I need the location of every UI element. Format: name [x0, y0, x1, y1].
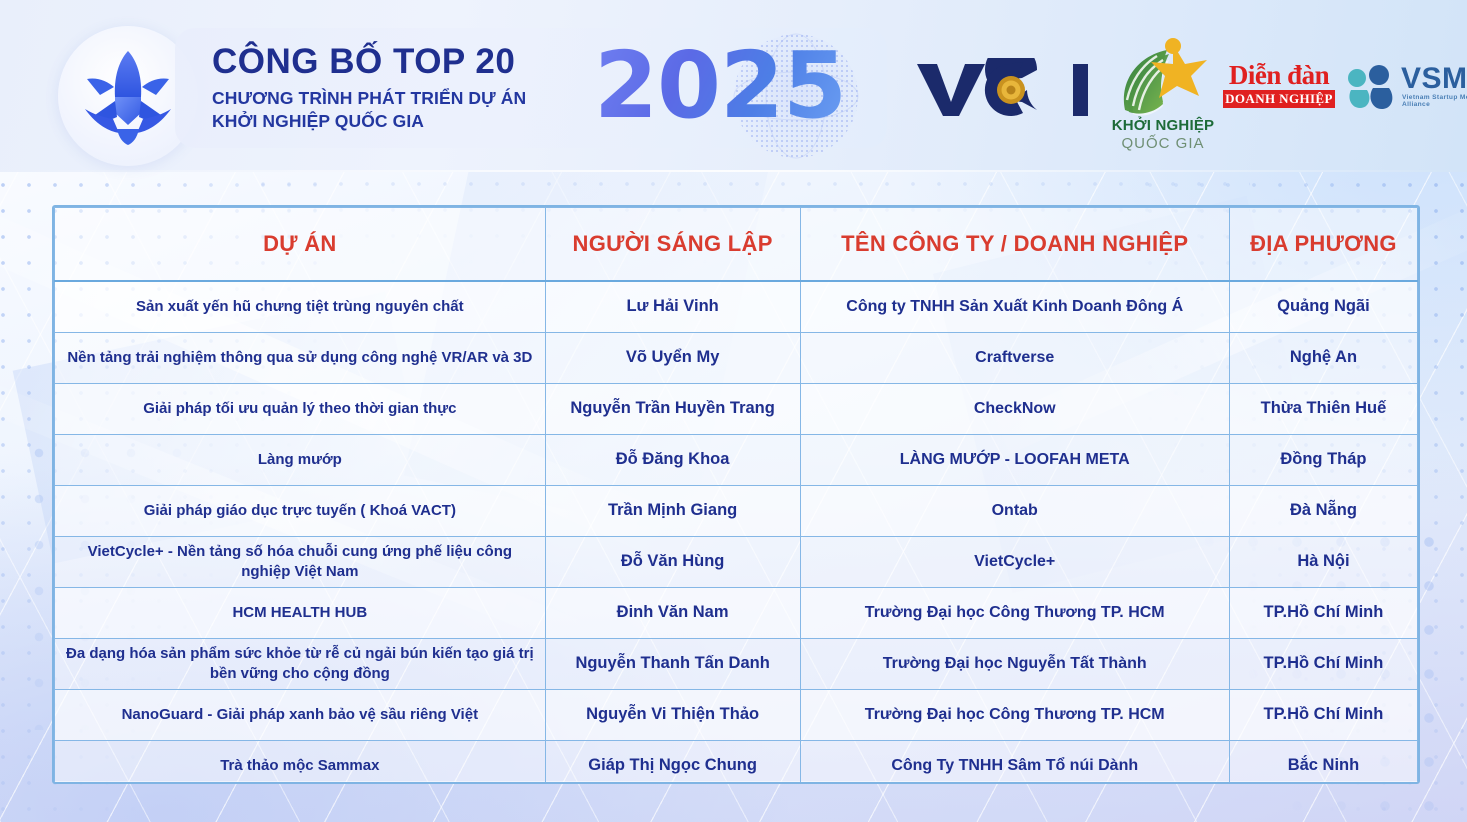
cell-founder: Nguyễn Vi Thiện Thảo [545, 689, 800, 740]
cell-founder: Trần Mịnh Giang [545, 485, 800, 536]
table-row: Trà thảo mộc Sammax Giáp Thị Ngọc Chung … [55, 740, 1418, 784]
cell-locality: Hà Nội [1229, 536, 1417, 587]
top20-table: DỰ ÁN NGƯỜI SÁNG LẬP TÊN CÔNG TY / DOANH… [54, 207, 1418, 784]
rocket-icon [69, 37, 187, 155]
cell-founder: Võ Uyển My [545, 332, 800, 383]
vsma-logo: VSMA Vietnam Startup Mentors Alliance [1345, 62, 1467, 114]
cell-project: Đa dạng hóa sản phẩm sức khỏe từ rễ củ n… [55, 638, 546, 689]
page-subtitle-line-2: KHỞI NGHIỆP QUỐC GIA [212, 110, 572, 133]
cell-locality: Quảng Ngãi [1229, 281, 1417, 332]
vsma-tagline: Vietnam Startup Mentors Alliance [1402, 94, 1467, 108]
table-body: Sản xuất yến hũ chưng tiệt trùng nguyên … [55, 281, 1418, 784]
table-header-row: DỰ ÁN NGƯỜI SÁNG LẬP TÊN CÔNG TY / DOANH… [55, 208, 1418, 282]
cell-founder: Giáp Thị Ngọc Chung [545, 740, 800, 784]
khoi-nghiep-quoc-gia-logo: KHỞI NGHIỆP QUỐC GIA [1103, 30, 1223, 152]
cell-locality: TP.Hồ Chí Minh [1229, 587, 1417, 638]
cell-founder: Lư Hải Vinh [545, 281, 800, 332]
column-header-project: DỰ ÁN [55, 208, 546, 282]
doanh-nghiep-text: DOANH NGHIỆP [1223, 90, 1335, 108]
table-row: Đa dạng hóa sản phẩm sức khỏe từ rễ củ n… [55, 638, 1418, 689]
cell-locality: TP.Hồ Chí Minh [1229, 689, 1417, 740]
cell-company: Trường Đại học Nguyễn Tất Thành [800, 638, 1229, 689]
cell-project: Trà thảo mộc Sammax [55, 740, 546, 784]
vsma-text: VSMA [1401, 64, 1467, 94]
top20-table-container: DỰ ÁN NGƯỜI SÁNG LẬP TÊN CÔNG TY / DOANH… [52, 205, 1420, 784]
cell-locality: Bắc Ninh [1229, 740, 1417, 784]
cell-founder: Nguyễn Trần Huyền Trang [545, 383, 800, 434]
page-title: CÔNG BỐ TOP 20 [212, 44, 572, 80]
cell-founder: Đỗ Văn Hùng [545, 536, 800, 587]
table-row: Sản xuất yến hũ chưng tiệt trùng nguyên … [55, 281, 1418, 332]
cell-locality: Đồng Tháp [1229, 434, 1417, 485]
column-header-founder: NGƯỜI SÁNG LẬP [545, 208, 800, 282]
page-subtitle-line-1: CHƯƠNG TRÌNH PHÁT TRIỂN DỰ ÁN [212, 87, 572, 110]
cell-locality: TP.Hồ Chí Minh [1229, 638, 1417, 689]
table-row: Làng mướp Đỗ Đăng Khoa LÀNG MƯỚP - LOOFA… [55, 434, 1418, 485]
cell-company: LÀNG MƯỚP - LOOFAH META [800, 434, 1229, 485]
cell-project: Làng mướp [55, 434, 546, 485]
slide-header: CÔNG BỐ TOP 20 CHƯƠNG TRÌNH PHÁT TRIỂN D… [0, 0, 1467, 172]
slide-canvas: CÔNG BỐ TOP 20 CHƯƠNG TRÌNH PHÁT TRIỂN D… [0, 0, 1467, 822]
cell-company: Ontab [800, 485, 1229, 536]
column-header-company: TÊN CÔNG TY / DOANH NGHIỆP [800, 208, 1229, 282]
cell-project: NanoGuard - Giải pháp xanh bảo vệ sầu ri… [55, 689, 546, 740]
khoi-nghiep-label: KHỞI NGHIỆP [1112, 116, 1215, 134]
dien-dan-text: Diễn đàn [1223, 63, 1335, 89]
column-header-locality: ĐỊA PHƯƠNG [1229, 208, 1417, 282]
partner-logos: KHỞI NGHIỆP QUỐC GIA Diễn đàn DOANH NGHI… [905, 26, 1450, 151]
cell-project: Giải pháp giáo dục trực tuyến ( Khoá VAC… [55, 485, 546, 536]
cell-project: Giải pháp tối ưu quản lý theo thời gian … [55, 383, 546, 434]
vcci-logo [915, 58, 1090, 120]
cell-project: Nền tảng trải nghiệm thông qua sử dụng c… [55, 332, 546, 383]
cell-company: Công ty TNHH Sản Xuất Kinh Doanh Đông Á [800, 281, 1229, 332]
cell-project: Sản xuất yến hũ chưng tiệt trùng nguyên … [55, 281, 546, 332]
cell-project: HCM HEALTH HUB [55, 587, 546, 638]
table-row: Giải pháp giáo dục trực tuyến ( Khoá VAC… [55, 485, 1418, 536]
year-label: 2025 [570, 26, 870, 146]
cell-locality: Đà Nẵng [1229, 485, 1417, 536]
table-row: Nền tảng trải nghiệm thông qua sử dụng c… [55, 332, 1418, 383]
year-text: 2025 [594, 40, 846, 132]
table-row: NanoGuard - Giải pháp xanh bảo vệ sầu ri… [55, 689, 1418, 740]
cell-company: Công Ty TNHH Sâm Tổ núi Dành [800, 740, 1229, 784]
table-header: DỰ ÁN NGƯỜI SÁNG LẬP TÊN CÔNG TY / DOANH… [55, 208, 1418, 282]
dien-dan-doanh-nghiep-logo: Diễn đàn DOANH NGHIỆP [1223, 63, 1335, 108]
cell-company: Trường Đại học Công Thương TP. HCM [800, 587, 1229, 638]
cell-founder: Nguyễn Thanh Tấn Danh [545, 638, 800, 689]
cell-founder: Đỗ Đăng Khoa [545, 434, 800, 485]
cell-company: Craftverse [800, 332, 1229, 383]
vsma-people-icon [1345, 64, 1397, 112]
table-row: Giải pháp tối ưu quản lý theo thời gian … [55, 383, 1418, 434]
table-row: VietCycle+ - Nền tảng số hóa chuỗi cung … [55, 536, 1418, 587]
cell-company: Trường Đại học Công Thương TP. HCM [800, 689, 1229, 740]
title-block: CÔNG BỐ TOP 20 CHƯƠNG TRÌNH PHÁT TRIỂN D… [212, 44, 572, 134]
cell-project: VietCycle+ - Nền tảng số hóa chuỗi cung … [55, 536, 546, 587]
cell-locality: Thừa Thiên Huế [1229, 383, 1417, 434]
cell-company: VietCycle+ [800, 536, 1229, 587]
quoc-gia-label: QUỐC GIA [1121, 134, 1204, 152]
table-row: HCM HEALTH HUB Đinh Văn Nam Trường Đại h… [55, 587, 1418, 638]
cell-locality: Nghệ An [1229, 332, 1417, 383]
cell-founder: Đinh Văn Nam [545, 587, 800, 638]
header-divider [0, 170, 1467, 172]
cell-company: CheckNow [800, 383, 1229, 434]
